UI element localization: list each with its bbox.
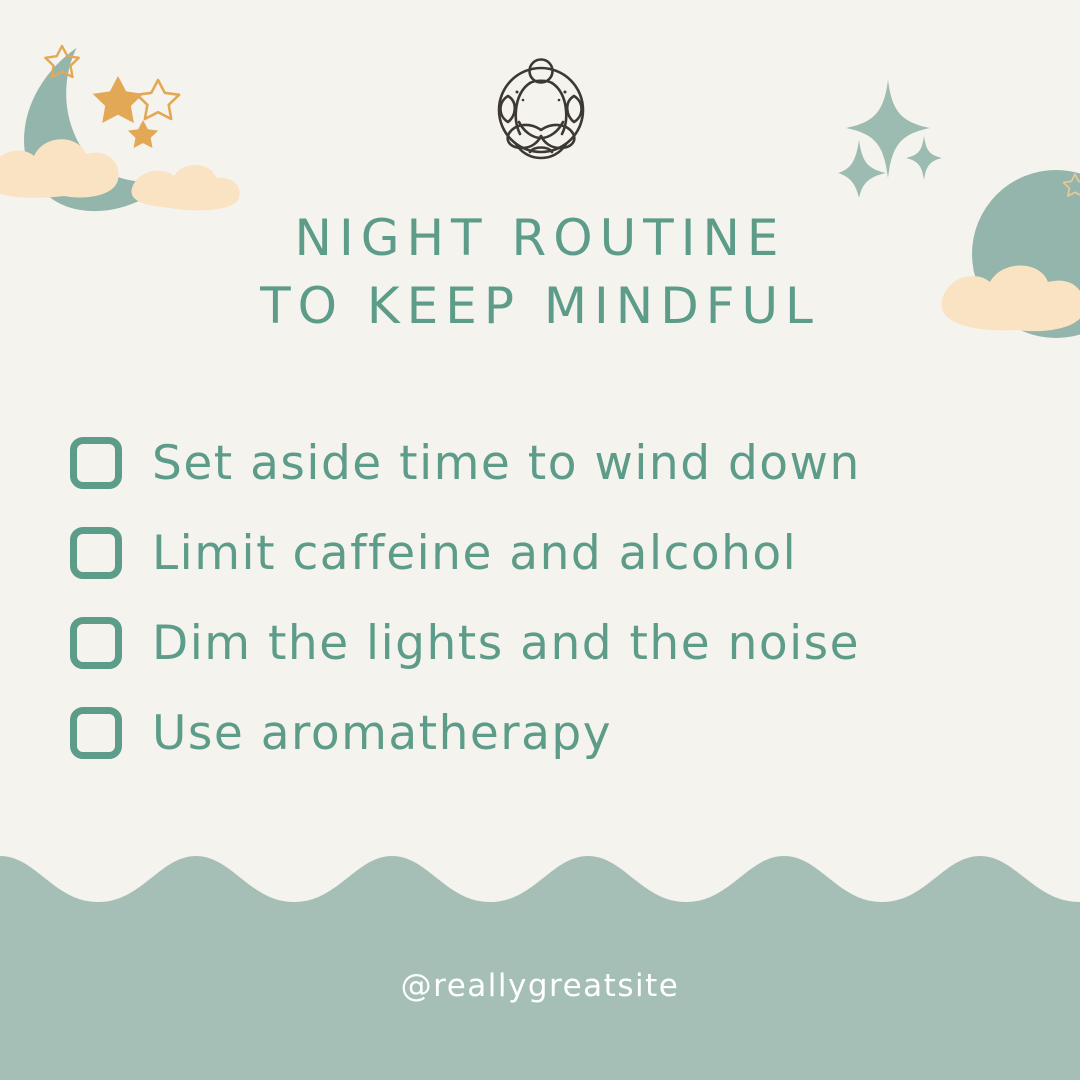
star-outline-right-icon (1064, 174, 1080, 196)
right-star-decoration (1062, 172, 1080, 198)
cloud-left-icon (0, 139, 119, 198)
list-item[interactable]: Use aromatherapy (70, 688, 1030, 778)
checklist-item-label: Set aside time to wind down (152, 436, 861, 491)
list-item[interactable]: Set aside time to wind down (70, 418, 1030, 508)
sparkle-small-icon (906, 136, 942, 180)
checkbox-2[interactable] (70, 527, 122, 579)
checklist-item-label: Use aromatherapy (152, 706, 612, 761)
checklist: Set aside time to wind down Limit caffei… (70, 418, 1030, 778)
page-title: NIGHT ROUTINE TO KEEP MINDFUL (0, 204, 1080, 340)
checklist-item-label: Limit caffeine and alcohol (152, 526, 797, 581)
star-outline-medium-icon (137, 80, 179, 119)
wave-footer (0, 840, 1080, 1080)
star-filled-small-icon (128, 120, 158, 148)
moon-cluster-decoration (0, 28, 246, 218)
star-filled-large-icon (93, 76, 144, 123)
checkbox-1[interactable] (70, 437, 122, 489)
checklist-item-label: Dim the lights and the noise (152, 616, 860, 671)
meditation-lotus-logo (486, 52, 596, 168)
social-handle: @reallygreatsite (0, 968, 1080, 1004)
crescent-moon-icon (0, 32, 175, 218)
checkbox-4[interactable] (70, 707, 122, 759)
sparkle-cluster-decoration (838, 78, 968, 198)
list-item[interactable]: Dim the lights and the noise (70, 598, 1030, 688)
sparkle-large-icon (846, 80, 930, 178)
night-routine-checklist-card: NIGHT ROUTINE TO KEEP MINDFUL Set aside … (0, 0, 1080, 1080)
checkbox-3[interactable] (70, 617, 122, 669)
list-item[interactable]: Limit caffeine and alcohol (70, 508, 1030, 598)
sparkle-medium-icon (838, 140, 886, 198)
star-outline-small-icon (45, 46, 79, 77)
